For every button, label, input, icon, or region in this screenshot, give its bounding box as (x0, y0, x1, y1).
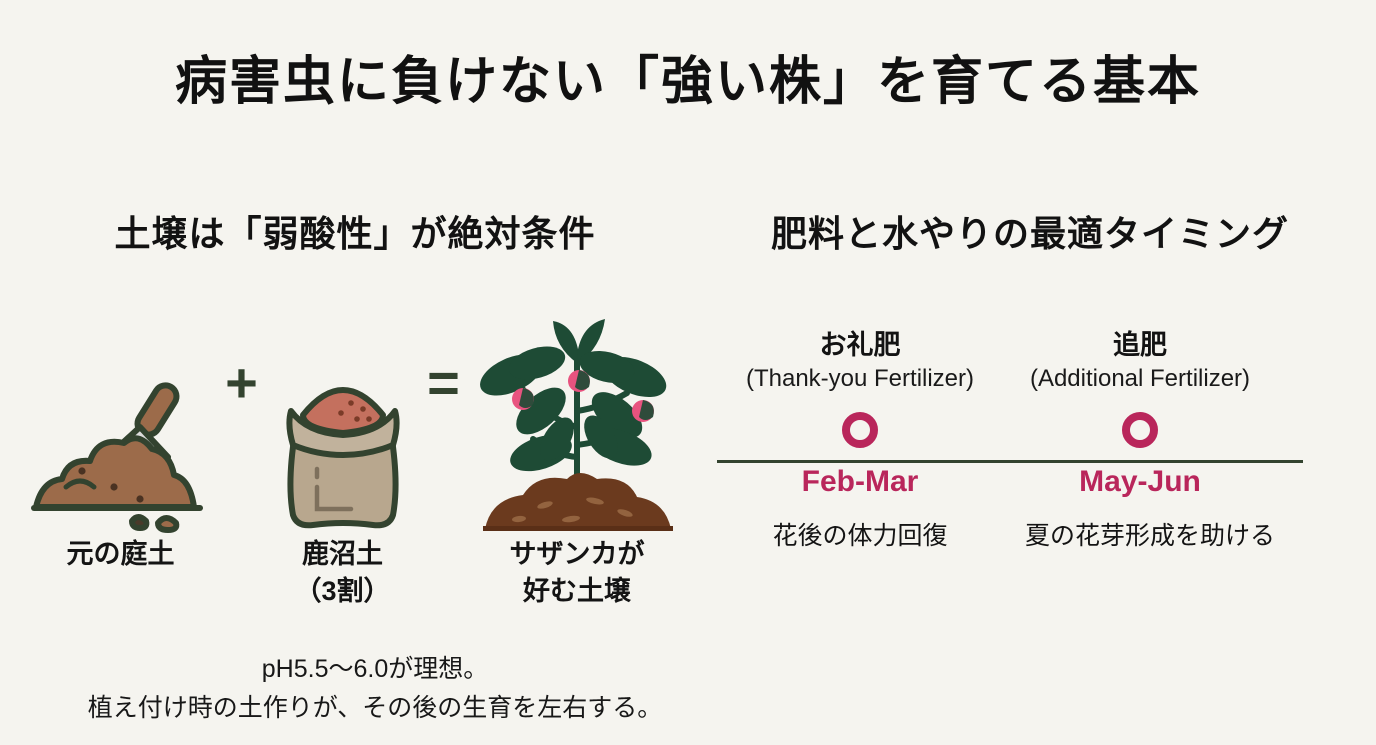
equals-operator: = (418, 355, 470, 486)
left-panel-footnote: pH5.5〜6.0が理想。 植え付け時の土作りが、その後の生育を左右する。 (40, 650, 710, 728)
timeline-node-title-en: (Thank-you Fertilizer) (745, 365, 975, 394)
fertilizer-sack-icon (268, 305, 418, 535)
timeline-node-month: Feb-Mar (745, 465, 975, 499)
left-panel-soil: 土壌は「弱酸性」が絶対条件 (20, 0, 690, 745)
timeline-node-title-jp: お礼肥 (745, 330, 975, 362)
left-panel-heading: 土壌は「弱酸性」が絶対条件 (20, 205, 690, 257)
equation-label-ideal-soil: サザンカが 好む土壌 (470, 536, 685, 609)
timeline-ring-marker (1122, 412, 1158, 448)
soil-equation-row: + (20, 300, 690, 540)
timeline-node-description: 花後の体力回復 (745, 516, 975, 552)
equation-label-kanuma-soil: 鹿沼土 （3割） (268, 536, 418, 609)
soil-equation-labels: 元の庭土 鹿沼土 （3割） サザンカが 好む土壌 (20, 536, 690, 609)
equation-label-native-soil: 元の庭土 (26, 536, 216, 573)
timeline-node-title-en: (Additional Fertilizer) (1025, 365, 1255, 394)
camellia-plant-in-soil-icon (470, 305, 685, 535)
slide-canvas: 病害虫に負けない「強い株」を育てる基本 土壌は「弱酸性」が絶対条件 (0, 0, 1376, 745)
timeline-node-thank-you-fertilizer: お礼肥 (Thank-you Fertilizer) Feb-Mar 花後の体力… (745, 330, 975, 552)
timeline-node-title-jp: 追肥 (1025, 330, 1255, 362)
timeline-node-description: 夏の花芽形成を助ける (1025, 516, 1255, 552)
right-panel-fertilizer: 肥料と水やりの最適タイミング お礼肥 (Thank-you Fertilizer… (700, 0, 1360, 745)
timeline-node-additional-fertilizer: 追肥 (Additional Fertilizer) May-Jun 夏の花芽形… (1025, 330, 1255, 552)
plus-operator: + (216, 355, 268, 486)
timeline-node-month: May-Jun (1025, 465, 1255, 499)
soil-mound-with-trowel-icon (26, 305, 216, 535)
timeline-ring-marker (842, 412, 878, 448)
fertilizer-timeline: お礼肥 (Thank-you Fertilizer) Feb-Mar 花後の体力… (700, 330, 1360, 600)
right-panel-heading: 肥料と水やりの最適タイミング (700, 205, 1360, 257)
